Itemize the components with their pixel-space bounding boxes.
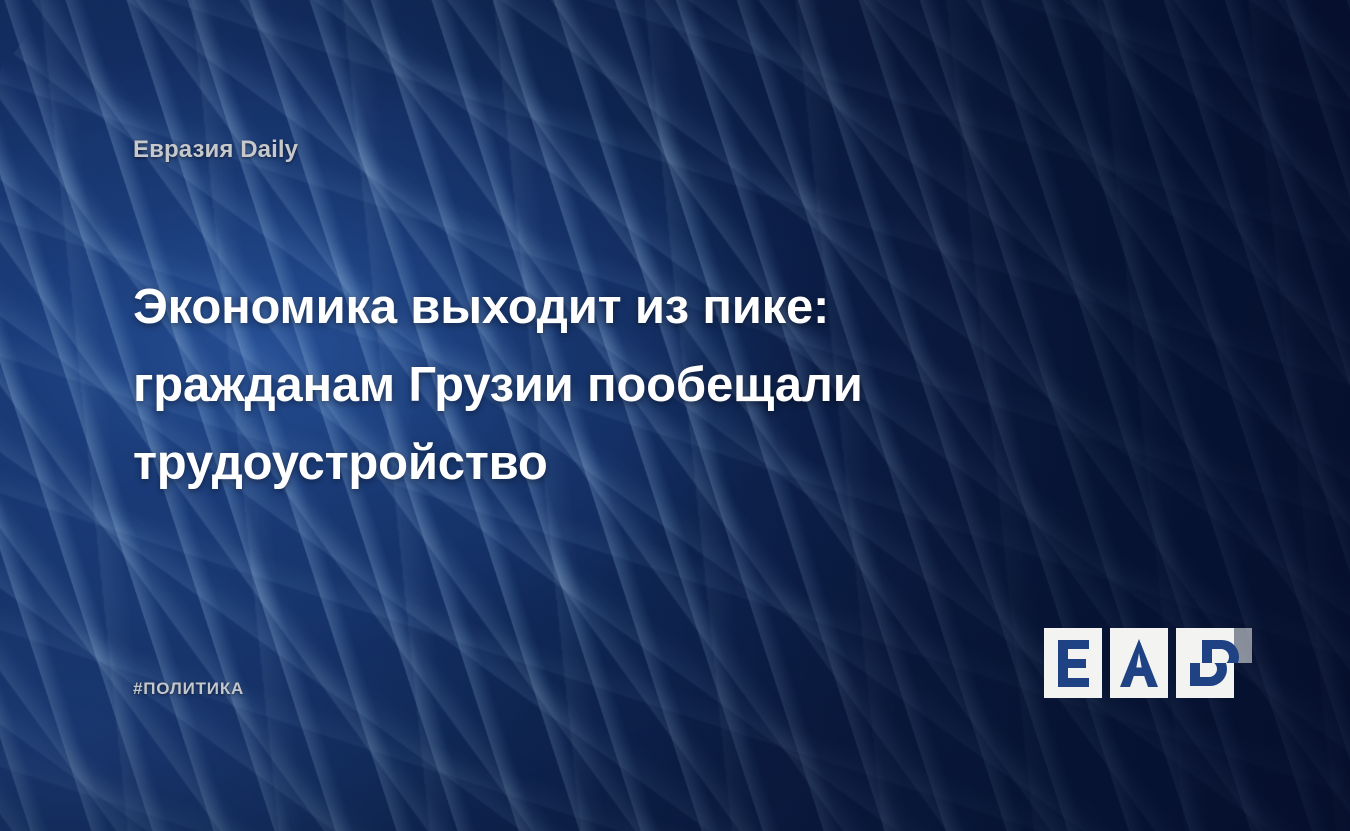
logo-tile-d: [1176, 628, 1234, 698]
brand-name: Евразия Daily: [133, 136, 298, 164]
news-card: Евразия Daily Экономика выходит из пике:…: [0, 0, 1350, 831]
headline: Экономика выходит из пике: гражданам Гру…: [133, 268, 1013, 502]
logo-tile-a: [1110, 628, 1168, 698]
headline-line-2: гражданам Грузии пообещали: [133, 346, 1013, 424]
card-content: Евразия Daily Экономика выходит из пике:…: [0, 0, 1350, 831]
category-tag[interactable]: #ПОЛИТИКА: [133, 679, 244, 699]
logo-tile-e: [1044, 628, 1102, 698]
letter-d-split-icon: [1176, 628, 1254, 698]
headline-line-1: Экономика выходит из пике:: [133, 268, 1013, 346]
letter-a-icon: [1110, 628, 1168, 698]
headline-line-3: трудоустройство: [133, 424, 1013, 502]
eadaily-logo[interactable]: [1044, 628, 1234, 698]
letter-e-icon: [1044, 628, 1102, 698]
